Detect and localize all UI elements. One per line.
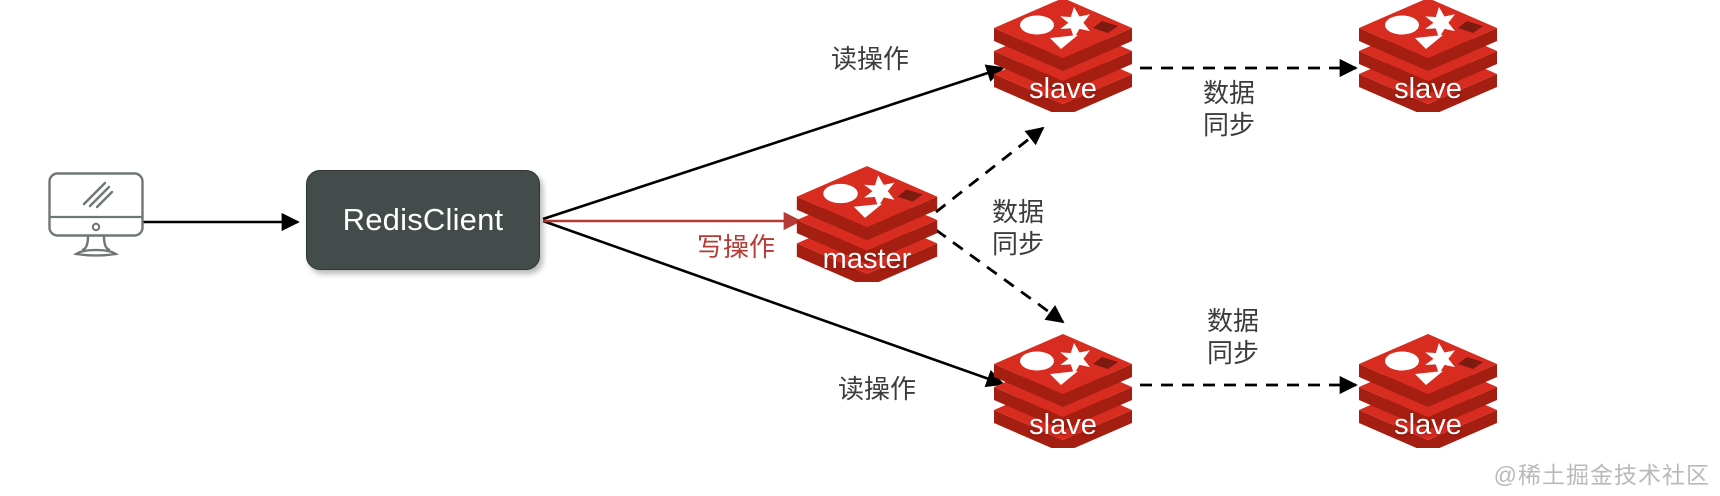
node-slave-top-right[interactable]: slave xyxy=(1355,0,1501,112)
diagram-canvas: RedisClient master slave slave slave sla… xyxy=(0,0,1720,496)
node-slave-bottom-right[interactable]: slave xyxy=(1355,330,1501,448)
redis-client-label: RedisClient xyxy=(343,202,504,238)
node-slave-bottom-right-label: slave xyxy=(1355,409,1501,442)
edge-master-to-slave-bottom-sync xyxy=(936,230,1063,322)
monitor-icon xyxy=(50,174,143,256)
redis-client-box[interactable]: RedisClient xyxy=(306,170,540,270)
node-slave-top-left[interactable]: slave xyxy=(990,0,1136,112)
edge-master-to-slave-top-sync xyxy=(936,128,1043,212)
node-slave-bottom-left[interactable]: slave xyxy=(990,330,1136,448)
node-master[interactable]: master xyxy=(792,162,942,282)
node-slave-bottom-left-label: slave xyxy=(990,409,1136,442)
node-slave-top-left-label: slave xyxy=(990,73,1136,106)
node-slave-top-right-label: slave xyxy=(1355,73,1501,106)
node-master-label: master xyxy=(792,243,942,276)
watermark: @稀土掘金技术社区 xyxy=(1494,456,1710,490)
